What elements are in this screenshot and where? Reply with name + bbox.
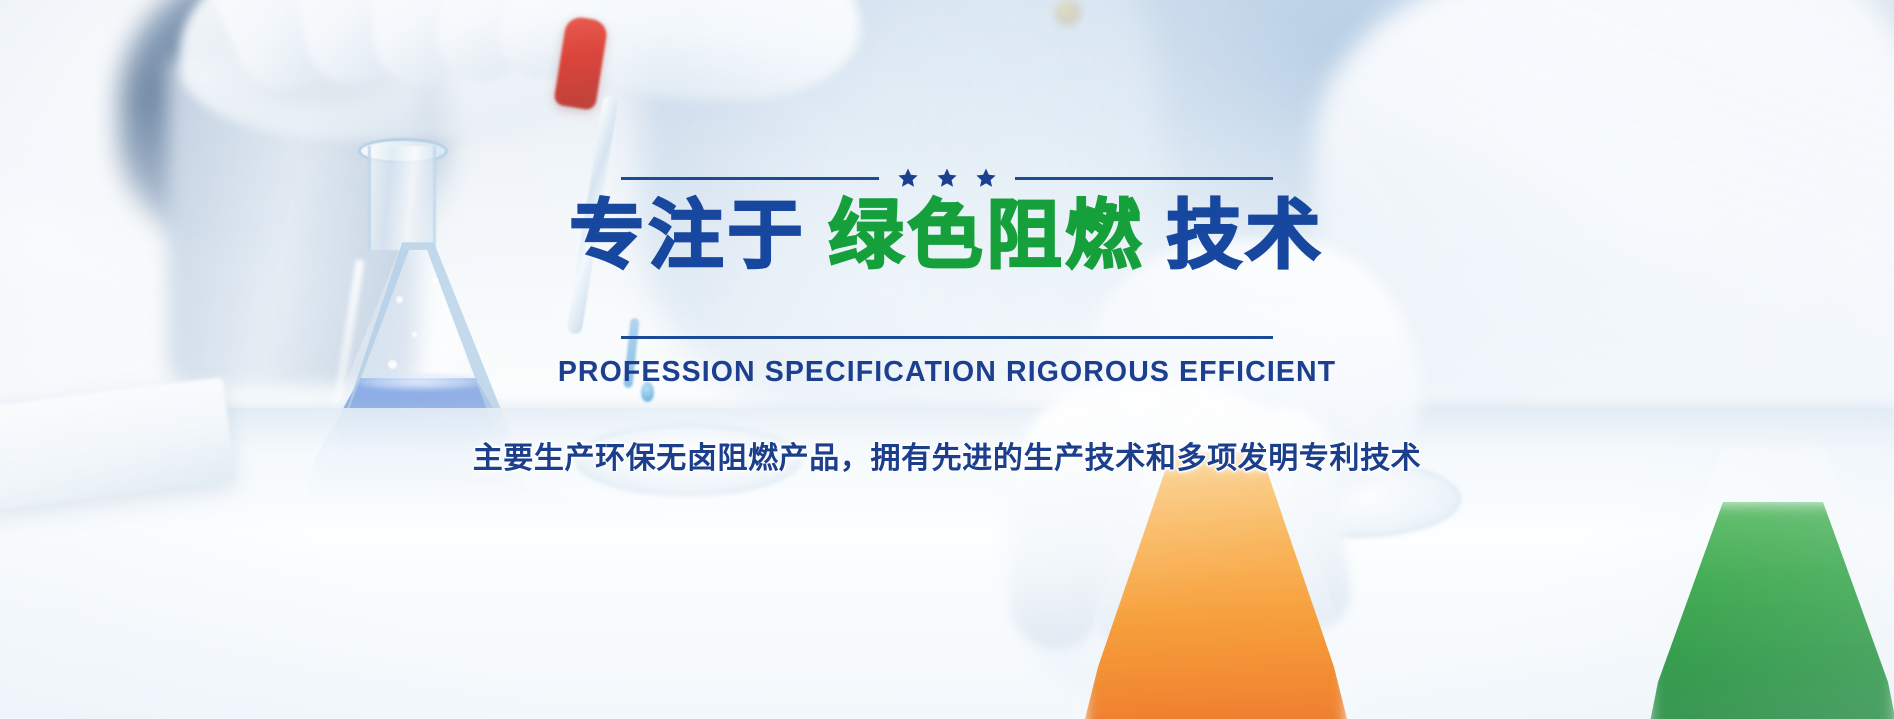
banner-content: 专注于绿色阻燃技术 PROFESSION SPECIFICATION RIGOR… bbox=[0, 0, 1894, 719]
star-icon bbox=[897, 167, 919, 189]
hero-banner: 专注于绿色阻燃技术 PROFESSION SPECIFICATION RIGOR… bbox=[0, 0, 1894, 719]
star-icon bbox=[975, 167, 997, 189]
rule-segment-right bbox=[1015, 177, 1273, 180]
subtitle-english: PROFESSION SPECIFICATION RIGOROUS EFFICI… bbox=[558, 356, 1336, 389]
star-group bbox=[897, 167, 997, 189]
rule-below-headline bbox=[621, 336, 1273, 339]
headline-part-3: 技术 bbox=[1167, 191, 1325, 279]
headline-part-1: 专注于 bbox=[569, 191, 806, 279]
rule-segment-left bbox=[621, 177, 879, 180]
description-chinese: 主要生产环保无卤阻燃产品，拥有先进的生产技术和多项发明专利技术 bbox=[473, 433, 1422, 477]
headline-part-2: 绿色阻燃 bbox=[828, 191, 1144, 279]
decorative-rule-with-stars bbox=[621, 168, 1273, 188]
page-title: 专注于绿色阻燃技术 bbox=[569, 196, 1324, 276]
star-icon bbox=[936, 167, 958, 189]
